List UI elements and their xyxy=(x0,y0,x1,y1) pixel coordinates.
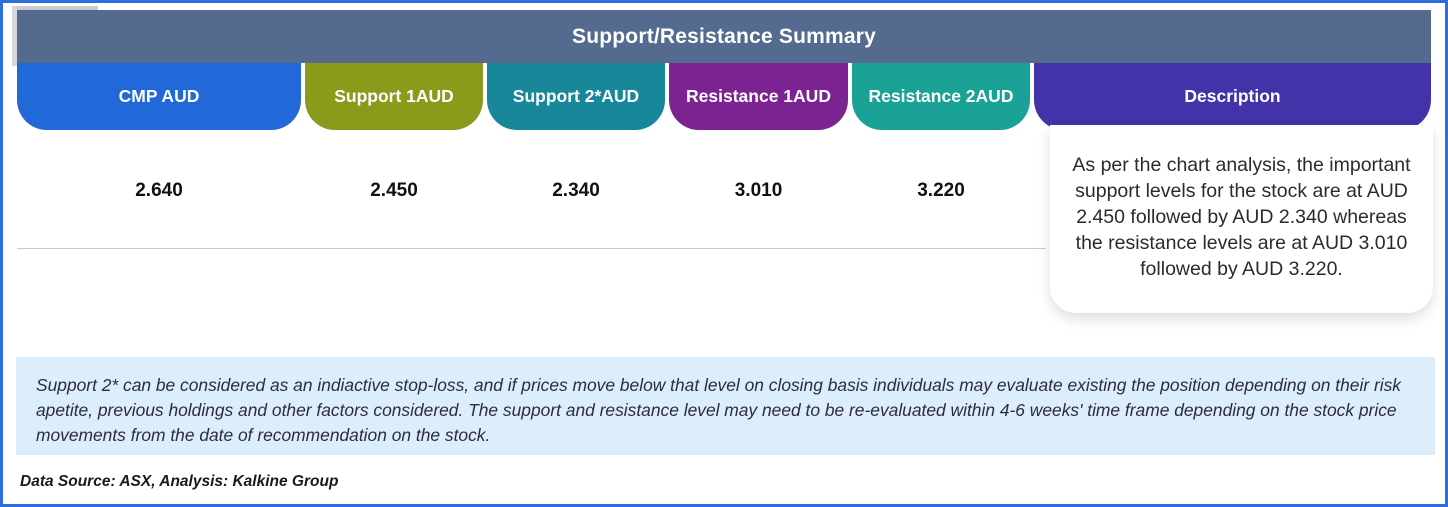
data-source-line: Data Source: ASX, Analysis: Kalkine Grou… xyxy=(20,473,338,491)
column-header-label: Resistance 2 xyxy=(869,86,976,107)
column-header-unit: AUD xyxy=(601,86,639,107)
description-card: As per the chart analysis, the important… xyxy=(1050,125,1433,313)
column-header-unit: AUD xyxy=(976,86,1014,107)
column-header-label: Description xyxy=(1184,86,1280,107)
disclaimer-note-text: Support 2* can be considered as an india… xyxy=(36,373,1415,449)
value-resistance-1-aud: 3.010 xyxy=(669,133,848,249)
column-header-row: CMP AUD Support 1AUD Support 2*AUD Resis… xyxy=(3,63,1448,133)
panel-title-bar: Support/Resistance Summary xyxy=(17,10,1431,63)
column-header-support-1-aud: Support 1AUD xyxy=(305,63,483,130)
panel-title: Support/Resistance Summary xyxy=(572,25,876,49)
value-cmp-aud: 2.640 xyxy=(17,133,301,249)
column-header-cmp-aud: CMP AUD xyxy=(17,63,301,130)
value-resistance-2-aud: 3.220 xyxy=(852,133,1030,249)
column-header-unit: AUD xyxy=(793,86,831,107)
column-header-resistance-2-aud: Resistance 2AUD xyxy=(852,63,1030,130)
column-header-label: Support 2* xyxy=(513,86,601,107)
support-resistance-summary-panel: Support/Resistance Summary CMP AUD Suppo… xyxy=(0,0,1448,507)
column-header-resistance-1-aud: Resistance 1AUD xyxy=(669,63,848,130)
column-header-label: Resistance 1 xyxy=(686,86,793,107)
value-support-1-aud: 2.450 xyxy=(305,133,483,249)
row-divider xyxy=(17,248,1046,249)
value-support-2-aud: 2.340 xyxy=(487,133,665,249)
column-header-description: Description xyxy=(1034,63,1431,130)
column-header-support-2-aud: Support 2*AUD xyxy=(487,63,665,130)
column-header-label: Support 1 xyxy=(334,86,416,107)
column-header-unit: AUD xyxy=(416,86,454,107)
disclaimer-note-box: Support 2* can be considered as an india… xyxy=(16,357,1435,455)
column-header-label: CMP AUD xyxy=(119,86,200,107)
description-text: As per the chart analysis, the important… xyxy=(1070,152,1413,283)
